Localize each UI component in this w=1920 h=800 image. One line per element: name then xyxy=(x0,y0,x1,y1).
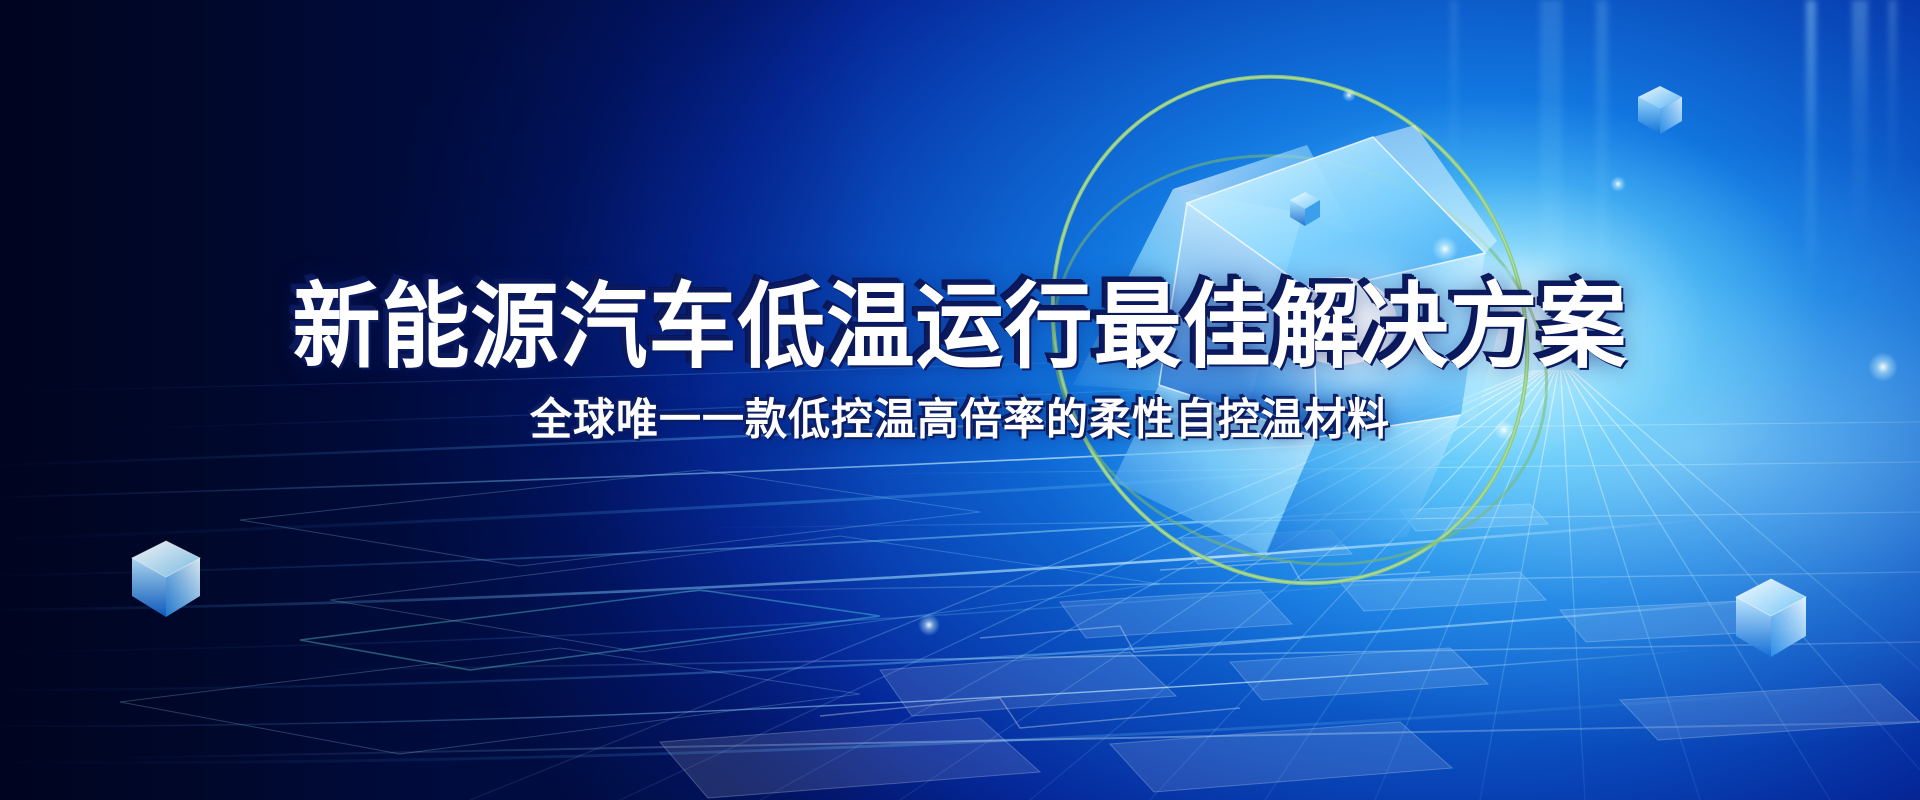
floating-cube-bottom-right xyxy=(1732,576,1810,660)
floating-cube-icon xyxy=(1732,576,1810,660)
sparkle xyxy=(1342,88,1356,102)
crystal-polyhedron xyxy=(1055,85,1535,565)
floating-cube-icon xyxy=(1298,198,1324,226)
floating-cube-top-right xyxy=(1636,84,1684,136)
sparkle xyxy=(1610,176,1626,192)
sparkle xyxy=(1432,236,1458,262)
sparkle xyxy=(1868,352,1898,382)
floating-cube-icon xyxy=(128,538,204,620)
floating-cube-icon xyxy=(1636,84,1684,136)
sparkle xyxy=(918,614,940,636)
center-glow xyxy=(0,0,1920,800)
crystal-polyhedron-icon xyxy=(1055,85,1535,565)
hero-banner: 新能源汽车低温运行最佳解决方案 全球唯一一款低控温高倍率的柔性自控温材料 xyxy=(0,0,1920,800)
sparkle xyxy=(1494,420,1514,440)
floating-cube-left xyxy=(128,538,204,620)
